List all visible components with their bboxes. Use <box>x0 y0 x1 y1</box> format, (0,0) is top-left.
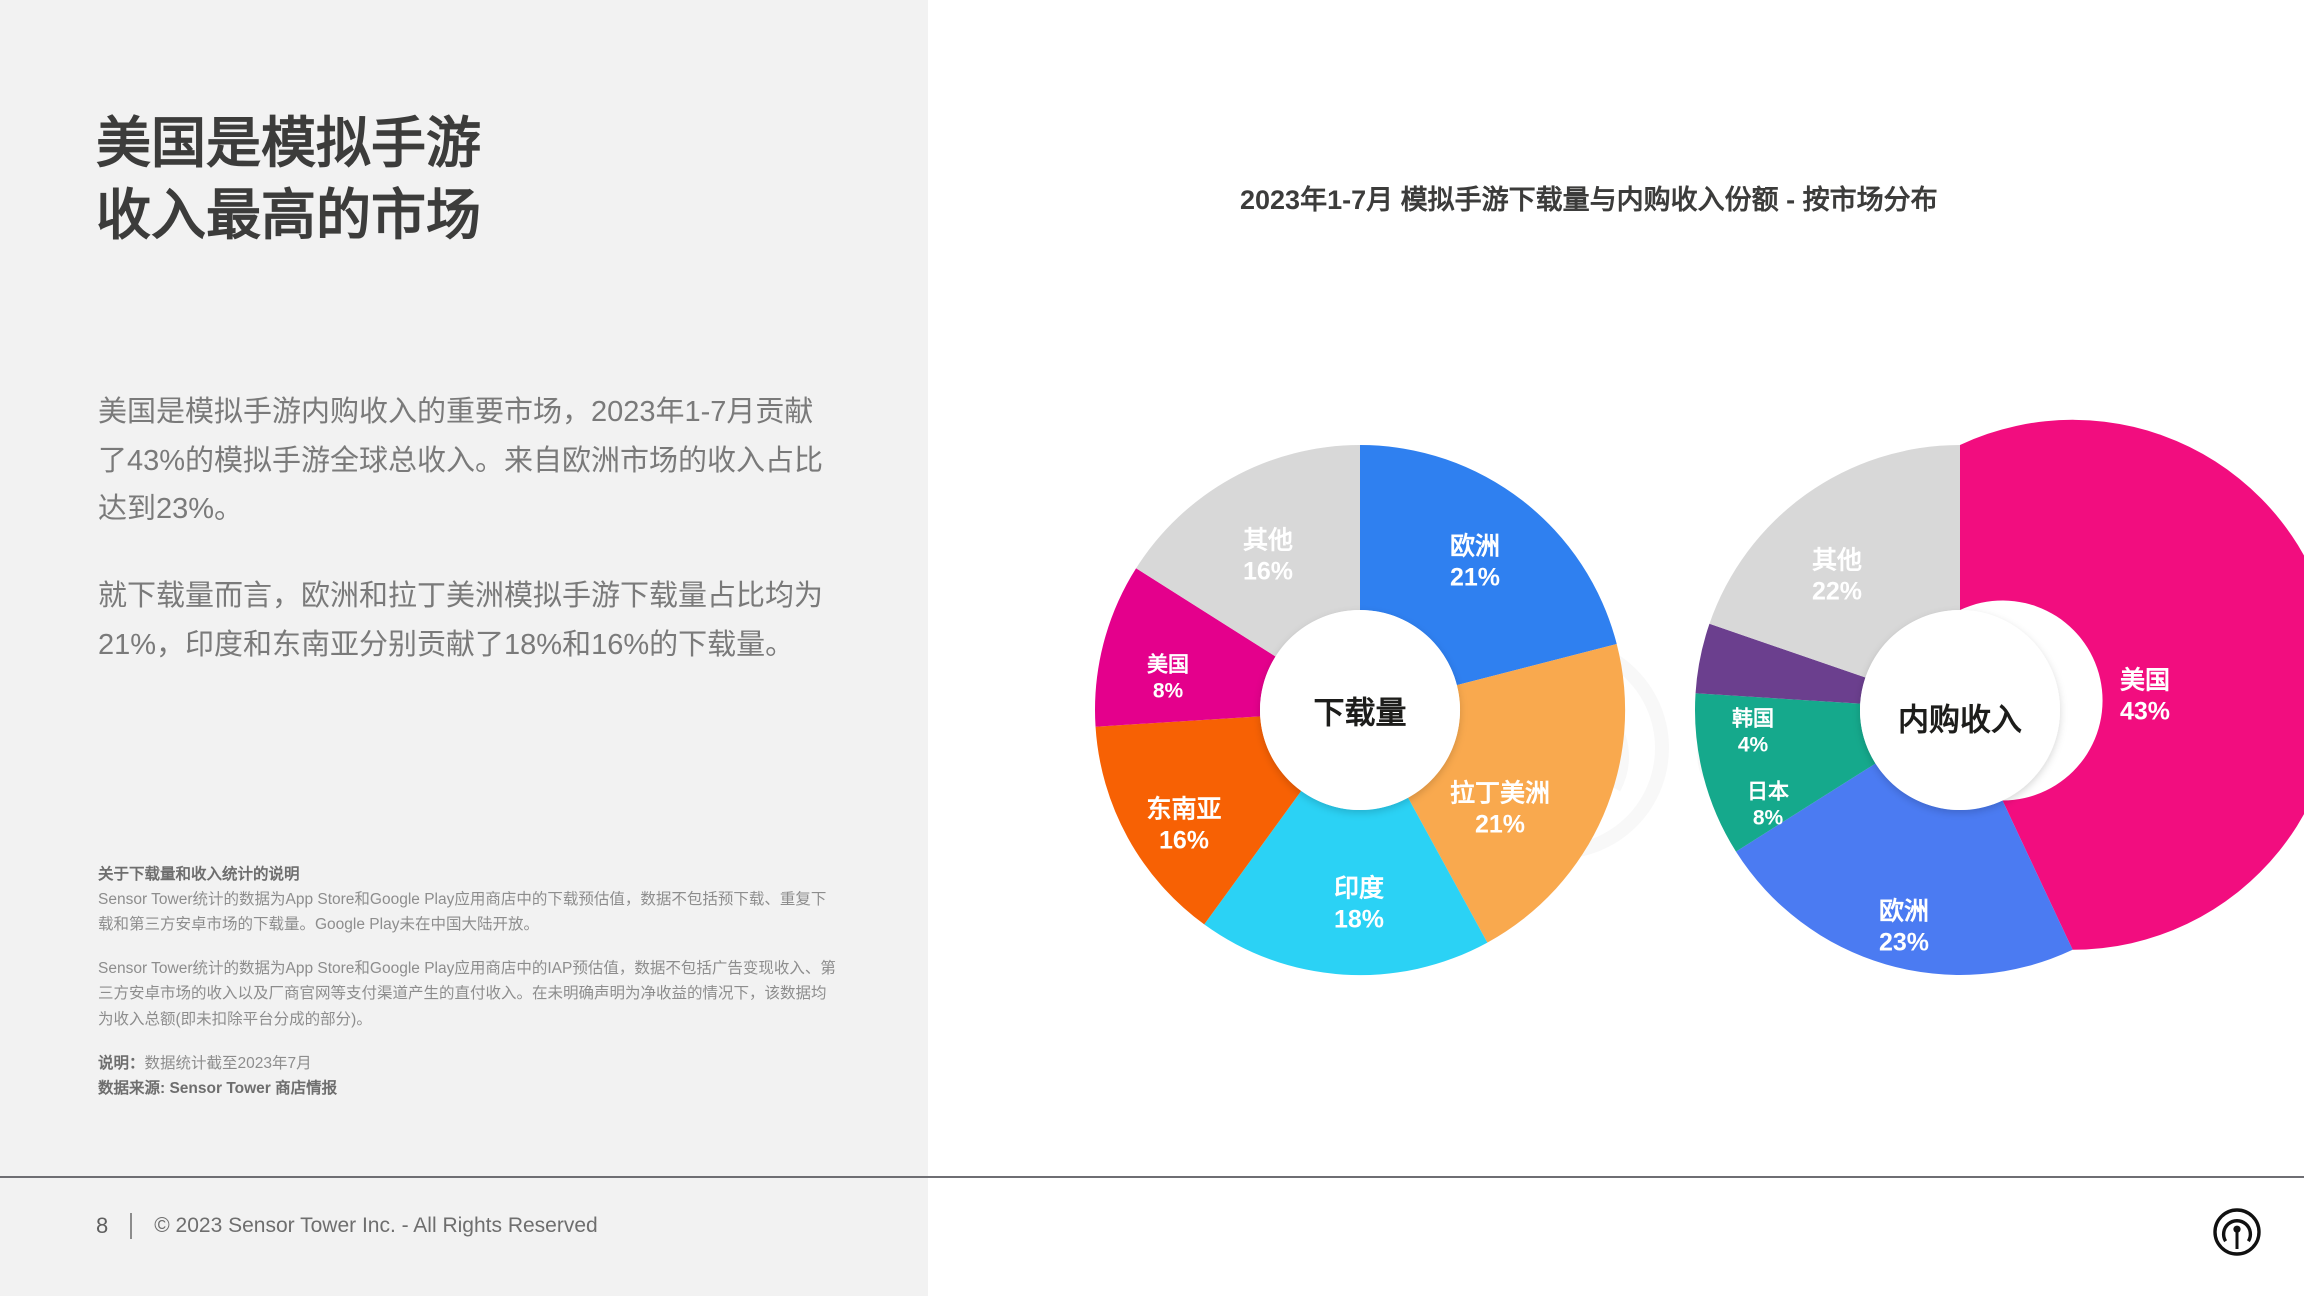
copyright-text: © 2023 Sensor Tower Inc. - All Rights Re… <box>154 1214 597 1238</box>
page-number: 8 <box>96 1213 108 1239</box>
page-title-line-1: 美国是模拟手游 <box>96 108 856 180</box>
methodology-notes: 关于下载量和收入统计的说明 Sensor Tower统计的数据为App Stor… <box>98 862 838 1101</box>
body-paragraph-2: 就下载量而言，欧洲和拉丁美洲模拟手游下载量占比均为21%，印度和东南亚分别贡献了… <box>98 572 828 669</box>
notes-statement-label: 说明： <box>98 1055 145 1072</box>
donut-center-label-revenue: 内购收入 <box>1898 695 2022 740</box>
page-title-line-2: 收入最高的市场 <box>96 180 856 252</box>
page-title: 美国是模拟手游 收入最高的市场 <box>96 108 856 251</box>
slide-page: 美国是模拟手游 收入最高的市场 美国是模拟手游内购收入的重要市场，2023年1-… <box>0 0 2304 1296</box>
donut-chart-downloads[interactable]: 下载量 欧洲21% 拉丁美洲21% 印度18% 东南亚16% 美国8% 其他16… <box>1080 440 1640 980</box>
left-text-panel: 美国是模拟手游 收入最高的市场 美国是模拟手游内购收入的重要市场，2023年1-… <box>0 0 928 1296</box>
footer-separator <box>130 1213 132 1239</box>
body-paragraph-1: 美国是模拟手游内购收入的重要市场，2023年1-7月贡献了43%的模拟手游全球总… <box>98 388 828 534</box>
notes-downloads: Sensor Tower统计的数据为App Store和Google Play应… <box>98 887 838 937</box>
sensor-tower-logo-icon <box>2210 1205 2264 1259</box>
footer: 8 © 2023 Sensor Tower Inc. - All Rights … <box>96 1213 598 1239</box>
chart-title: 2023年1-7月 模拟手游下载量与内购收入份额 - 按市场分布 <box>1240 178 1938 217</box>
donut-chart-iap-revenue[interactable]: 内购收入 美国43% 欧洲23% 日本8% 韩国4% 其他22% <box>1680 440 2240 980</box>
notes-heading: 关于下载量和收入统计的说明 <box>98 862 838 887</box>
body-copy: 美国是模拟手游内购收入的重要市场，2023年1-7月贡献了43%的模拟手游全球总… <box>98 388 828 708</box>
footer-divider <box>0 1176 2304 1178</box>
notes-source: 数据来源: Sensor Tower 商店情报 <box>98 1076 838 1101</box>
donut-center-label-downloads: 下载量 <box>1314 688 1407 733</box>
notes-revenue: Sensor Tower统计的数据为App Store和Google Play应… <box>98 956 838 1031</box>
notes-statement-value: 数据统计截至2023年7月 <box>145 1055 312 1072</box>
notes-statement: 说明：数据统计截至2023年7月 <box>98 1051 838 1076</box>
